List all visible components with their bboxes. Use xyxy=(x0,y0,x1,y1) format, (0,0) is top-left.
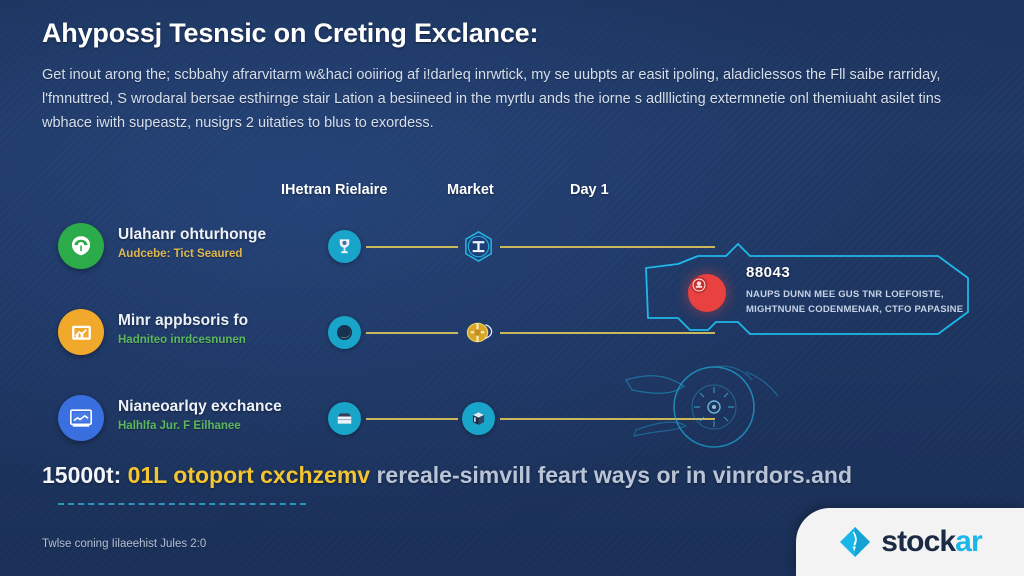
chart-frame-icon xyxy=(58,309,104,355)
box-open-icon[interactable] xyxy=(328,402,361,435)
stockar-diamond-icon xyxy=(838,525,872,559)
column-header-2: Day 1 xyxy=(570,182,609,198)
column-header-1: Market xyxy=(447,182,494,198)
header-block: Ahypossj Tesnsic on Creting Exclance: Ge… xyxy=(42,18,972,135)
connector-line xyxy=(366,246,458,248)
logo-panel[interactable]: stockar xyxy=(796,508,1024,576)
row-subtitle: Audcebe: Tict Seaured xyxy=(118,247,266,262)
headline-highlight: 01L otoport cxchzemv xyxy=(128,462,370,488)
callout-text-block: 88043 NAUPS DUNN MEE GUS TNR LOEFOISTE, … xyxy=(746,264,963,317)
footnote-text: Twlse coning Iilaeehist Jules 2:0 xyxy=(42,538,206,550)
shield-parachute-icon xyxy=(58,223,104,269)
row-title: Nianeoarlqy exchance xyxy=(118,398,282,416)
slide-canvas: Ahypossj Tesnsic on Creting Exclance: Ge… xyxy=(0,0,1024,576)
cube-stack-icon[interactable] xyxy=(462,402,495,435)
column-header-row: IHetran Rielaire Market Day 1 xyxy=(0,182,1024,204)
footer-headline: 15000t: 01L otoport cxchzemv rereale-sim… xyxy=(42,462,852,489)
gold-badge-icon[interactable] xyxy=(462,316,495,349)
connector-line xyxy=(366,332,458,334)
hex-pillar-icon[interactable] xyxy=(462,230,495,263)
row-subtitle: Hadniteo inrdcesnunen xyxy=(118,333,248,348)
row-divider xyxy=(58,503,306,505)
row-title: Minr appbsoris fo xyxy=(118,312,248,330)
row-text-block: Ulahanr ohturhonge Audcebe: Tict Seaured xyxy=(118,226,266,262)
callout-line-2: MIGHTNUNE CODENMENAR, CTFO PAPASINE xyxy=(746,303,963,317)
logo-wordmark: stockar xyxy=(881,527,981,557)
logo-name-cyan: ar xyxy=(955,525,982,558)
callout-line-1: NAUPS DUNN MEE GUS TNR LOEFOISTE, xyxy=(746,288,963,302)
connector-line xyxy=(500,418,715,420)
monitor-window-icon xyxy=(58,395,104,441)
row-text-block: Minr appbsoris fo Hadniteo inrdcesnunen xyxy=(118,312,248,348)
row-title: Ulahanr ohturhonge xyxy=(118,226,266,244)
column-header-0: IHetran Rielaire xyxy=(281,182,387,198)
connector-line xyxy=(366,418,458,420)
globe-trophy-icon[interactable] xyxy=(328,230,361,263)
page-subtitle: Get inout arong the; scbbahy afrarvitarm… xyxy=(42,63,967,135)
headline-rest: rereale-simvill feart ways or in vinrdor… xyxy=(376,462,852,488)
row-subtitle: Halhlfa Jur. F Eilhanee xyxy=(118,419,282,434)
callout-bubble[interactable]: 88043 NAUPS DUNN MEE GUS TNR LOEFOISTE, … xyxy=(638,238,978,348)
headline-prefix: 15000t: xyxy=(42,462,121,488)
moon-crescent-icon[interactable] xyxy=(328,316,361,349)
callout-heading: 88043 xyxy=(746,264,963,281)
table-row[interactable]: Nianeoarlqy exchance Halhlfa Jur. F Eilh… xyxy=(0,386,1024,466)
row-text-block: Nianeoarlqy exchance Halhlfa Jur. F Eilh… xyxy=(118,398,282,434)
alert-rose-icon xyxy=(688,274,726,312)
logo-name-dark: stock xyxy=(881,525,955,558)
page-title: Ahypossj Tesnsic on Creting Exclance: xyxy=(42,18,972,49)
